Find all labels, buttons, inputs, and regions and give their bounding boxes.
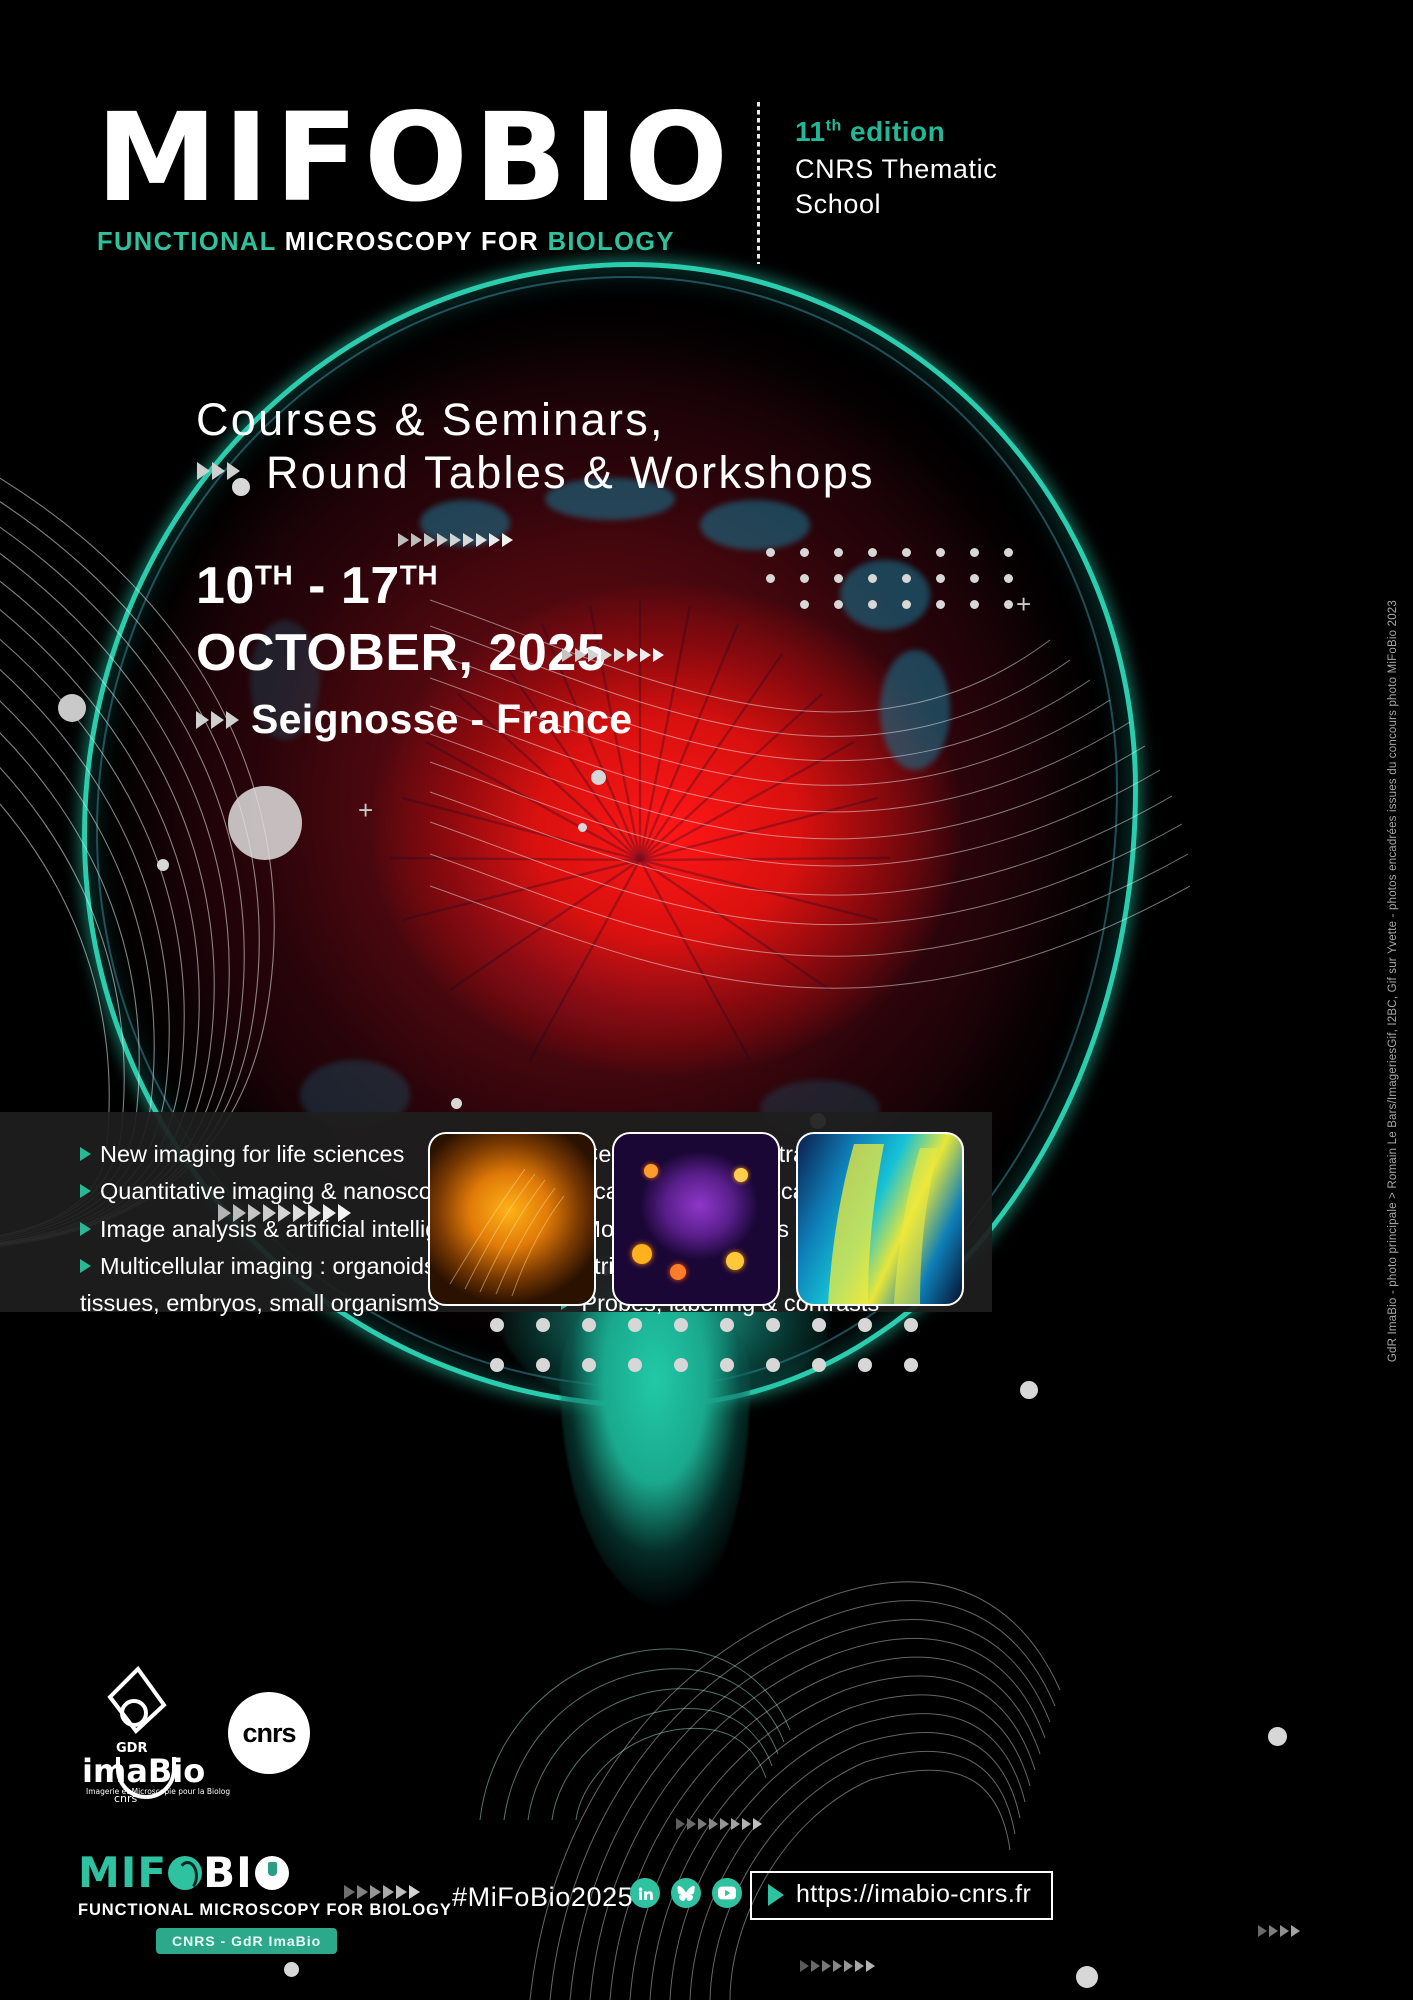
arrow-icon: [211, 711, 224, 729]
main-title-line-1: Courses & Seminars,: [196, 393, 875, 446]
edition-word: edition: [850, 116, 945, 147]
thumbnail-blue-yellow-section: [796, 1132, 964, 1306]
event-day-range: 10TH - 17TH: [196, 558, 632, 614]
day-to-suffix: TH: [400, 560, 438, 591]
arrow-icon: [212, 462, 225, 480]
arrow-icon: [370, 1885, 381, 1899]
edition-block: 11th edition CNRS Thematic School: [795, 116, 997, 221]
arrow-icon: [720, 1818, 729, 1830]
linkedin-icon[interactable]: [630, 1878, 660, 1908]
plus-marker: +: [358, 797, 373, 823]
footer-logo-mif: MIF: [78, 1852, 167, 1894]
tagline-part-2: MICROSCOPY FOR: [285, 228, 548, 256]
arrow-run-thumbnails: [218, 1204, 351, 1222]
tagline-part-3: BIOLOGY: [548, 228, 675, 256]
decor-circle: [591, 770, 606, 785]
arrow-icon: [1269, 1925, 1278, 1937]
arrow-icon: [411, 533, 422, 547]
arrow-run-footer: [344, 1885, 420, 1899]
arrow-icon: [640, 648, 651, 662]
arrow-icon: [742, 1818, 751, 1830]
arrow-icon: [338, 1204, 351, 1222]
triangle-bullet-icon: [80, 1147, 91, 1161]
arrow-icon: [833, 1960, 842, 1972]
arrow-icon: [653, 648, 664, 662]
topic-text: tissues, embryos, small organisms: [80, 1287, 439, 1320]
arrow-icon: [476, 533, 487, 547]
arrow-icon: [226, 711, 239, 729]
decor-circle: [228, 786, 302, 860]
footer-logo-microscope-icon: [255, 1856, 289, 1890]
main-title: Courses & Seminars, Round Tables & Works…: [196, 393, 875, 499]
svg-text:Imagerie et Microscopie pour l: Imagerie et Microscopie pour la Biologie: [86, 1787, 230, 1796]
dot-grid-top-right: [766, 548, 1016, 628]
arrow-icon: [293, 1204, 306, 1222]
topic-text: New imaging for life sciences: [100, 1138, 404, 1171]
mifobio-wordmark: MIFOBIO: [96, 97, 734, 219]
bluesky-icon[interactable]: [671, 1878, 701, 1908]
cnrs-logo-text: cnrs: [242, 1718, 295, 1749]
arrow-icon: [197, 462, 210, 480]
arrow-icon: [588, 648, 599, 662]
arrow-icon: [248, 1204, 261, 1222]
arrow-icon: [844, 1960, 853, 1972]
decor-circle: [157, 859, 169, 871]
arrow-icon: [227, 462, 240, 480]
event-location: Seignosse - France: [251, 696, 632, 743]
arrow-run-above-footer: [676, 1818, 762, 1830]
arrow-icon: [575, 648, 586, 662]
arrow-icon: [1291, 1925, 1300, 1937]
arrow-icon: [398, 533, 409, 547]
youtube-icon[interactable]: [712, 1878, 742, 1908]
social-links: [630, 1878, 742, 1908]
topics-column-left: New imaging for life sciences Quantitati…: [0, 1138, 493, 1325]
arrow-icon: [866, 1960, 875, 1972]
arrow-icon: [396, 1885, 407, 1899]
organiser-line-1: CNRS Thematic: [795, 152, 997, 187]
day-from: 10: [196, 557, 255, 615]
arrow-run-title: [197, 462, 240, 480]
triangle-bullet-icon: [80, 1184, 91, 1198]
arrow-icon: [627, 648, 638, 662]
hashtag-text: #MiFoBio2025: [452, 1882, 633, 1913]
mifobio-poster: + + MIFOBIO FUNCTIONAL MICROSCOPY FOR BI…: [0, 0, 1413, 2000]
event-location-row: Seignosse - France: [196, 696, 632, 743]
photo-credit: GdR ImaBio - photo principale > Romain L…: [1387, 600, 1399, 1362]
day-to: 17: [341, 557, 400, 615]
arrow-icon: [731, 1818, 740, 1830]
arrow-icon: [753, 1818, 762, 1830]
footer-mifobio-logo: MIF BI FUNCTIONAL MICROSCOPY FOR BIOLOGY…: [78, 1852, 452, 1954]
header-dotted-divider: [757, 102, 760, 264]
arrow-icon: [1258, 1925, 1267, 1937]
dot-grid-bottom: [490, 1318, 1050, 1378]
decor-circle: [451, 1098, 462, 1109]
decor-circle: [58, 694, 86, 722]
arrow-icon: [383, 1885, 394, 1899]
edition-number: 11: [795, 116, 826, 147]
footer-logo-tagline: FUNCTIONAL MICROSCOPY FOR BIOLOGY: [78, 1901, 452, 1920]
arrow-run-right-edge: [1258, 1925, 1300, 1937]
decor-circle: [1076, 1966, 1098, 1988]
decor-circle: [1020, 1381, 1038, 1399]
arrow-run-location: [196, 711, 239, 729]
footer-logo-bi: BI: [203, 1852, 253, 1894]
header-tagline: FUNCTIONAL MICROSCOPY FOR BIOLOGY: [97, 228, 675, 257]
arrow-icon: [450, 533, 461, 547]
arrow-icon: [614, 648, 625, 662]
edition-number-line: 11th edition: [795, 116, 997, 148]
arrow-icon: [800, 1960, 809, 1972]
edition-suffix: th: [826, 118, 842, 135]
website-url-button[interactable]: https://imabio-cnrs.fr: [750, 1871, 1053, 1920]
arrow-icon: [822, 1960, 831, 1972]
arrow-icon: [437, 533, 448, 547]
arrow-icon: [308, 1204, 321, 1222]
arrow-icon: [698, 1818, 707, 1830]
thumbnail-purple-cells: [612, 1132, 780, 1306]
arrow-icon: [323, 1204, 336, 1222]
organiser-line-2: School: [795, 187, 997, 222]
arrow-icon: [562, 648, 573, 662]
tagline-part-1: FUNCTIONAL: [97, 228, 285, 256]
triangle-bullet-icon: [80, 1222, 91, 1236]
main-title-line-2: Round Tables & Workshops: [196, 446, 875, 499]
thumbnail-strip: [428, 1132, 964, 1306]
arrow-icon: [687, 1818, 696, 1830]
svg-text:imaBio: imaBio: [82, 1752, 205, 1790]
arrow-icon: [357, 1885, 368, 1899]
arrow-run-mid: [398, 533, 513, 547]
play-triangle-icon: [768, 1884, 784, 1906]
arrow-icon: [1280, 1925, 1289, 1937]
arrow-icon: [263, 1204, 276, 1222]
arrow-icon: [855, 1960, 864, 1972]
cnrs-logo: cnrs: [228, 1692, 310, 1774]
date-dash: -: [308, 557, 326, 615]
arrow-icon: [344, 1885, 355, 1899]
arrow-run-date: [562, 648, 664, 662]
arrow-icon: [424, 533, 435, 547]
arrow-icon: [489, 533, 500, 547]
gdr-imabio-logo: GDR imaBio Imagerie et Microscopie pour …: [78, 1657, 230, 1802]
plus-marker: +: [1016, 591, 1031, 617]
arrow-icon: [409, 1885, 420, 1899]
triangle-bullet-icon: [80, 1259, 91, 1273]
arrow-icon: [196, 711, 209, 729]
svg-text:cnrs: cnrs: [114, 1792, 138, 1802]
footer-logo-badge: CNRS - GdR ImaBio: [156, 1928, 337, 1954]
arrow-icon: [811, 1960, 820, 1972]
arrow-icon: [502, 533, 513, 547]
website-url-text: https://imabio-cnrs.fr: [796, 1880, 1031, 1909]
footer-logo-o-icon: [168, 1856, 202, 1890]
arrow-icon: [601, 648, 612, 662]
decor-circle: [578, 823, 587, 832]
arrow-icon: [233, 1204, 246, 1222]
day-from-suffix: TH: [255, 560, 293, 591]
decor-circle: [1268, 1727, 1287, 1746]
arrow-icon: [463, 533, 474, 547]
arrow-icon: [676, 1818, 685, 1830]
arrow-icon: [278, 1204, 291, 1222]
arrow-icon: [709, 1818, 718, 1830]
thumbnail-orange-tissue: [428, 1132, 596, 1306]
decor-circle: [284, 1962, 299, 1977]
arrow-run-bottom: [800, 1960, 875, 1972]
topic-text: Multicellular imaging : organoids,: [100, 1250, 442, 1283]
arrow-icon: [218, 1204, 231, 1222]
